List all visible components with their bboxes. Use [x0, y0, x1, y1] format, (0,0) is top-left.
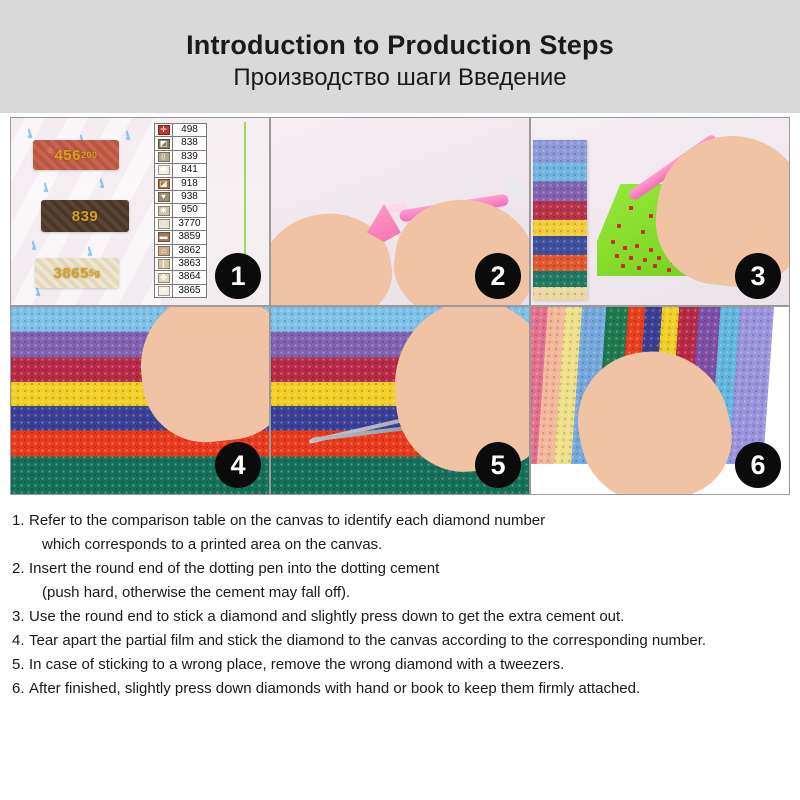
instruction-number: 1.	[12, 512, 29, 530]
color-chart-body: ✛498◩838⌷839✚841◪918♥938✱950△3770▬3859⌂3…	[155, 124, 207, 298]
step-panel-4: 4	[11, 307, 269, 494]
color-chart-row: ✛498	[155, 124, 207, 137]
color-comparison-table: ✛498◩838⌷839✚841◪918♥938✱950△3770▬3859⌂3…	[154, 123, 207, 298]
instruction-number: 2.	[12, 560, 29, 578]
instruction-number: 6.	[12, 680, 29, 698]
color-symbol-cell: ▬	[155, 231, 173, 244]
step-panel-6: 6	[531, 307, 789, 494]
bag-label: 3865	[54, 265, 89, 282]
instruction-sheet: Introduction to Production Steps Произво…	[0, 0, 800, 800]
symbol-swatch-icon: ✚	[158, 165, 170, 175]
color-symbol-cell: ✱	[155, 204, 173, 217]
step-panel-3: 3	[531, 118, 789, 305]
step-badge-2: 2	[475, 253, 521, 299]
symbol-swatch-icon: ♥	[158, 192, 170, 202]
color-number-cell: 838	[173, 137, 207, 150]
instruction-continuation: which corresponds to a printed area on t…	[42, 536, 794, 554]
color-symbol-cell: ⌷	[155, 150, 173, 163]
color-chart-row: ⌷839	[155, 150, 207, 163]
instruction-text: Use the round end to stick a diamond and…	[29, 608, 794, 626]
color-chart-row: ♥938	[155, 191, 207, 204]
color-symbol-cell: ❙	[155, 258, 173, 271]
color-number-cell: 3859	[173, 231, 207, 244]
symbol-swatch-icon: ◩	[158, 139, 170, 149]
symbol-swatch-icon: ❙	[158, 259, 170, 269]
color-number-cell: 3864	[173, 271, 207, 284]
instruction-text: Refer to the comparison table on the can…	[29, 512, 794, 530]
diamond-bag-row: 456 200	[33, 140, 119, 170]
pen-cap	[506, 179, 525, 199]
color-symbol-cell: ✤	[155, 271, 173, 284]
color-chart-row: ✱950	[155, 204, 207, 217]
color-chart-row: ▬3859	[155, 231, 207, 244]
color-symbol-cell: ✛	[155, 124, 173, 137]
symbol-swatch-icon: ◪	[158, 179, 170, 189]
instruction-item: 4.Tear apart the partial film and stick …	[12, 632, 794, 650]
instruction-number: 4.	[12, 632, 29, 650]
symbol-swatch-icon: ▬	[158, 232, 170, 242]
color-symbol-cell: ⌂	[155, 244, 173, 257]
symbol-swatch-icon: //	[158, 286, 170, 296]
color-chart-row: ⌂3862	[155, 244, 207, 257]
symbol-swatch-icon: △	[158, 219, 170, 229]
color-symbol-cell: ♥	[155, 191, 173, 204]
symbol-swatch-icon: ✛	[158, 125, 170, 135]
page-title-russian: Производство шаги Введение	[233, 63, 566, 93]
striped-canvas	[533, 140, 587, 300]
bead-texture	[533, 140, 587, 300]
step-photo-grid: ✔ ✔ ✔ ✔ ✔ ✔ ✔ ✔ 456 200 839 3865 5g	[10, 117, 790, 495]
diamond-bag-row: 3865 5g	[35, 258, 119, 288]
bag-sublabel: 200	[81, 150, 98, 160]
color-number-cell: 841	[173, 164, 207, 177]
step-panel-5: 5	[271, 307, 529, 494]
symbol-swatch-icon: ⌷	[158, 152, 170, 162]
color-number-cell: 498	[173, 124, 207, 137]
color-chart-row: ❙3863	[155, 258, 207, 271]
bag-label: 839	[72, 208, 99, 225]
instruction-item: 5.In case of sticking to a wrong place, …	[12, 656, 794, 674]
symbol-swatch-icon: ✤	[158, 273, 170, 283]
step-badge-3: 3	[735, 253, 781, 299]
instruction-text: Tear apart the partial film and stick th…	[29, 632, 794, 650]
color-number-cell: 839	[173, 150, 207, 163]
page-header: Introduction to Production Steps Произво…	[0, 0, 800, 113]
color-number-cell: 950	[173, 204, 207, 217]
step-panel-1: ✔ ✔ ✔ ✔ ✔ ✔ ✔ ✔ 456 200 839 3865 5g	[11, 118, 269, 305]
color-number-cell: 3770	[173, 217, 207, 230]
color-number-cell: 3862	[173, 244, 207, 257]
bag-label: 456	[54, 147, 81, 164]
instruction-text: In case of sticking to a wrong place, re…	[29, 656, 794, 674]
step-badge-4: 4	[215, 442, 261, 488]
symbol-swatch-icon: ⌂	[158, 246, 170, 256]
symbol-swatch-icon: ✱	[158, 206, 170, 216]
instruction-list: 1.Refer to the comparison table on the c…	[12, 512, 794, 704]
color-number-cell: 3863	[173, 258, 207, 271]
instruction-item: 2.Insert the round end of the dotting pe…	[12, 560, 794, 578]
color-number-cell: 938	[173, 191, 207, 204]
diamond-bag-row: 839	[41, 200, 129, 232]
instruction-text: After finished, slightly press down diam…	[29, 680, 794, 698]
color-symbol-cell: △	[155, 217, 173, 230]
color-number-cell: 3865	[173, 284, 207, 297]
color-symbol-cell: ◩	[155, 137, 173, 150]
step-badge-5: 5	[475, 442, 521, 488]
color-chart-row: //3865	[155, 284, 207, 297]
color-chart-row: ◪918	[155, 177, 207, 190]
instruction-item: 3.Use the round end to stick a diamond a…	[12, 608, 794, 626]
step-panel-2: 2	[271, 118, 529, 305]
color-symbol-cell: ◪	[155, 177, 173, 190]
step-badge-1: 1	[215, 253, 261, 299]
color-chart-row: ✤3864	[155, 271, 207, 284]
instruction-number: 3.	[12, 608, 29, 626]
instruction-continuation: (push hard, otherwise the cement may fal…	[42, 584, 794, 602]
instruction-item: 1.Refer to the comparison table on the c…	[12, 512, 794, 530]
color-chart-row: ✚841	[155, 164, 207, 177]
color-chart-row: ◩838	[155, 137, 207, 150]
instruction-text: Insert the round end of the dotting pen …	[29, 560, 794, 578]
instruction-item: 6.After finished, slightly press down di…	[12, 680, 794, 698]
page-title-english: Introduction to Production Steps	[186, 28, 614, 62]
color-chart-row: △3770	[155, 217, 207, 230]
step-badge-6: 6	[735, 442, 781, 488]
color-number-cell: 918	[173, 177, 207, 190]
instruction-number: 5.	[12, 656, 29, 674]
bag-sublabel: 5g	[89, 268, 101, 278]
color-symbol-cell: //	[155, 284, 173, 297]
color-symbol-cell: ✚	[155, 164, 173, 177]
